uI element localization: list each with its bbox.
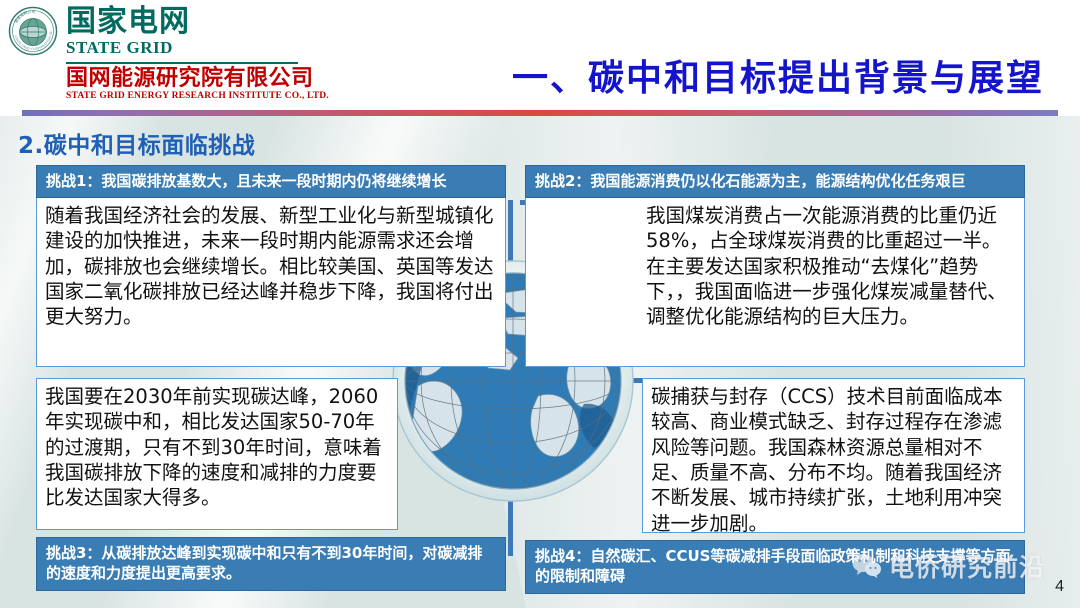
logo-institute-en: STATE GRID ENERGY RESEARCH INSTITUTE CO.… (66, 91, 329, 101)
header-gradient-rule (22, 110, 1058, 116)
banner-challenge-3: 挑战3：从碳排放达峰到实现碳中和只有不到30年时间，对碳减排的速度和力度提出更高… (36, 537, 506, 591)
card-heading: 挑战1：我国碳排放基数大，且未来一段时期内仍将继续增长 (36, 165, 506, 198)
card-challenge-2: 挑战2：我国能源消费仍以化石能源为主，能源结构优化任务艰巨 我国煤炭消费占一次能… (525, 165, 1025, 367)
slide-root: 国家电网公司 STATE GRID CORPORATION OF CHINA 国… (0, 0, 1080, 608)
section-title: 2.碳中和目标面临挑战 (18, 126, 255, 160)
card-challenge-4: 碳捕获与封存（CCS）技术目前面临成本较高、商业模式缺乏、封存过程存在渗滤风险等… (642, 378, 1025, 533)
banner-challenge-4: 挑战4：自然碳汇、CCUS等碳减排手段面临政策机制和科技支撑等方面的限制和障碍 (525, 540, 1025, 594)
card-body-text: 随着我国经济社会的发展、新型工业化与新型城镇化建设的加快推进，未来一段时期内能源… (36, 198, 506, 367)
card-body-text: 碳捕获与封存（CCS）技术目前面临成本较高、商业模式缺乏、封存过程存在渗滤风险等… (642, 378, 1025, 533)
logo-institute-cn: 国网能源研究院有限公司 (66, 67, 329, 91)
page-number: 4 (1055, 578, 1064, 596)
logo-divider (66, 62, 298, 64)
card-body-text: 我国煤炭消费占一次能源消费的比重仍近58%，占全球煤炭消费的比重超过一半。在主要… (525, 198, 1025, 367)
card-heading: 挑战2：我国能源消费仍以化石能源为主，能源结构优化任务艰巨 (525, 165, 1025, 198)
card-body-text: 我国要在2030年前实现碳达峰，2060年实现碳中和，相比发达国家50-70年的… (36, 378, 398, 530)
card-challenge-1: 挑战1：我国碳排放基数大，且未来一段时期内仍将继续增长 随着我国经济社会的发展、… (36, 165, 506, 367)
logo-company-cn: 国家电网 (66, 6, 329, 38)
state-grid-globe-emblem-icon: 国家电网公司 STATE GRID CORPORATION OF CHINA (8, 6, 58, 56)
logo-company-en: STATE GRID (66, 38, 329, 58)
page-title: 一、碳中和目标提出背景与展望 (512, 49, 1044, 101)
slide-header: 国家电网公司 STATE GRID CORPORATION OF CHINA 国… (0, 0, 1080, 108)
state-grid-logo: 国家电网公司 STATE GRID CORPORATION OF CHINA 国… (8, 6, 329, 101)
card-challenge-3: 我国要在2030年前实现碳达峰，2060年实现碳中和，相比发达国家50-70年的… (36, 378, 398, 530)
